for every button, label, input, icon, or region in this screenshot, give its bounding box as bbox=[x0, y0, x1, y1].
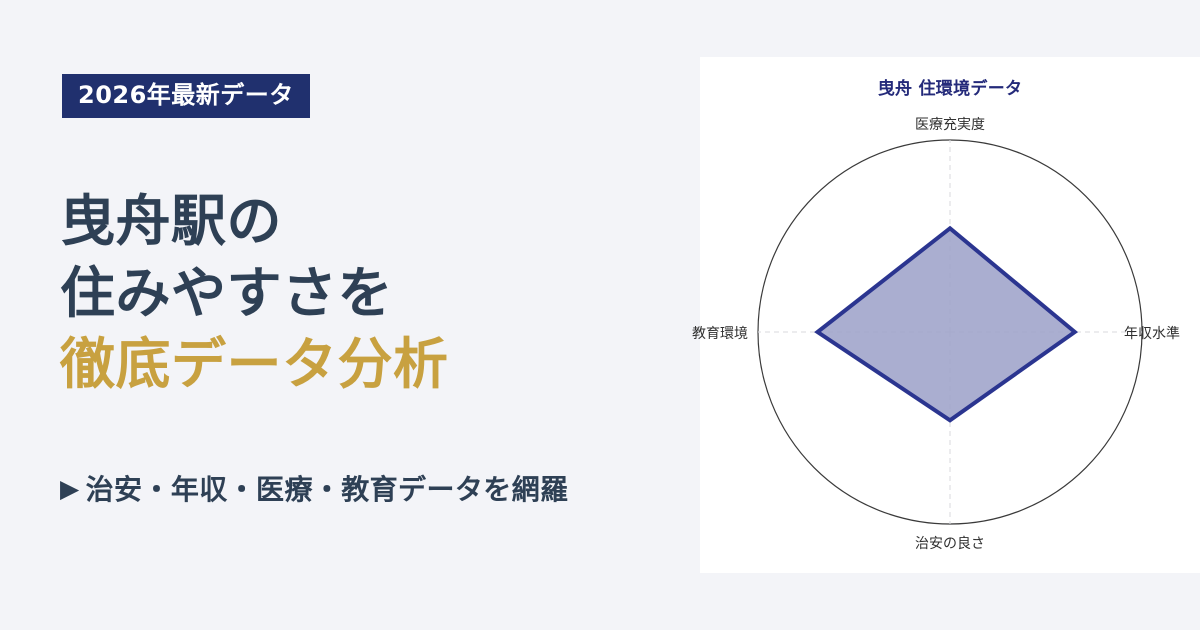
play-triangle-icon: ▶ bbox=[60, 476, 80, 501]
radar-chart-svg bbox=[700, 57, 1200, 573]
headline-line-2: 住みやすさを bbox=[60, 258, 680, 330]
axis-label-education: 教育環境 bbox=[692, 323, 748, 343]
hero-text-column: 2026年最新データ 曳舟駅の 住みやすさを 徹底データ分析 ▶ 治安・年収・医… bbox=[0, 0, 700, 630]
headline-line-3: 徹底データ分析 bbox=[60, 329, 680, 401]
page-title: 曳舟駅の 住みやすさを 徹底データ分析 bbox=[60, 186, 680, 401]
subtitle-text: 治安・年収・医療・教育データを網羅 bbox=[86, 468, 569, 508]
axis-label-safety: 治安の良さ bbox=[700, 533, 1200, 553]
axis-label-medical: 医療充実度 bbox=[700, 114, 1200, 134]
page-root: 2026年最新データ 曳舟駅の 住みやすさを 徹底データ分析 ▶ 治安・年収・医… bbox=[0, 0, 1200, 630]
radar-data-polygon bbox=[818, 228, 1075, 420]
subtitle: ▶ 治安・年収・医療・教育データを網羅 bbox=[60, 468, 568, 508]
headline-line-1: 曳舟駅の bbox=[60, 186, 680, 258]
axis-label-income: 年収水準 bbox=[1124, 323, 1180, 343]
radar-chart-panel: 曳舟 住環境データ 医療充実度 年収水準 治安の良さ 教育環境 bbox=[700, 57, 1200, 573]
date-badge: 2026年最新データ bbox=[62, 74, 310, 118]
